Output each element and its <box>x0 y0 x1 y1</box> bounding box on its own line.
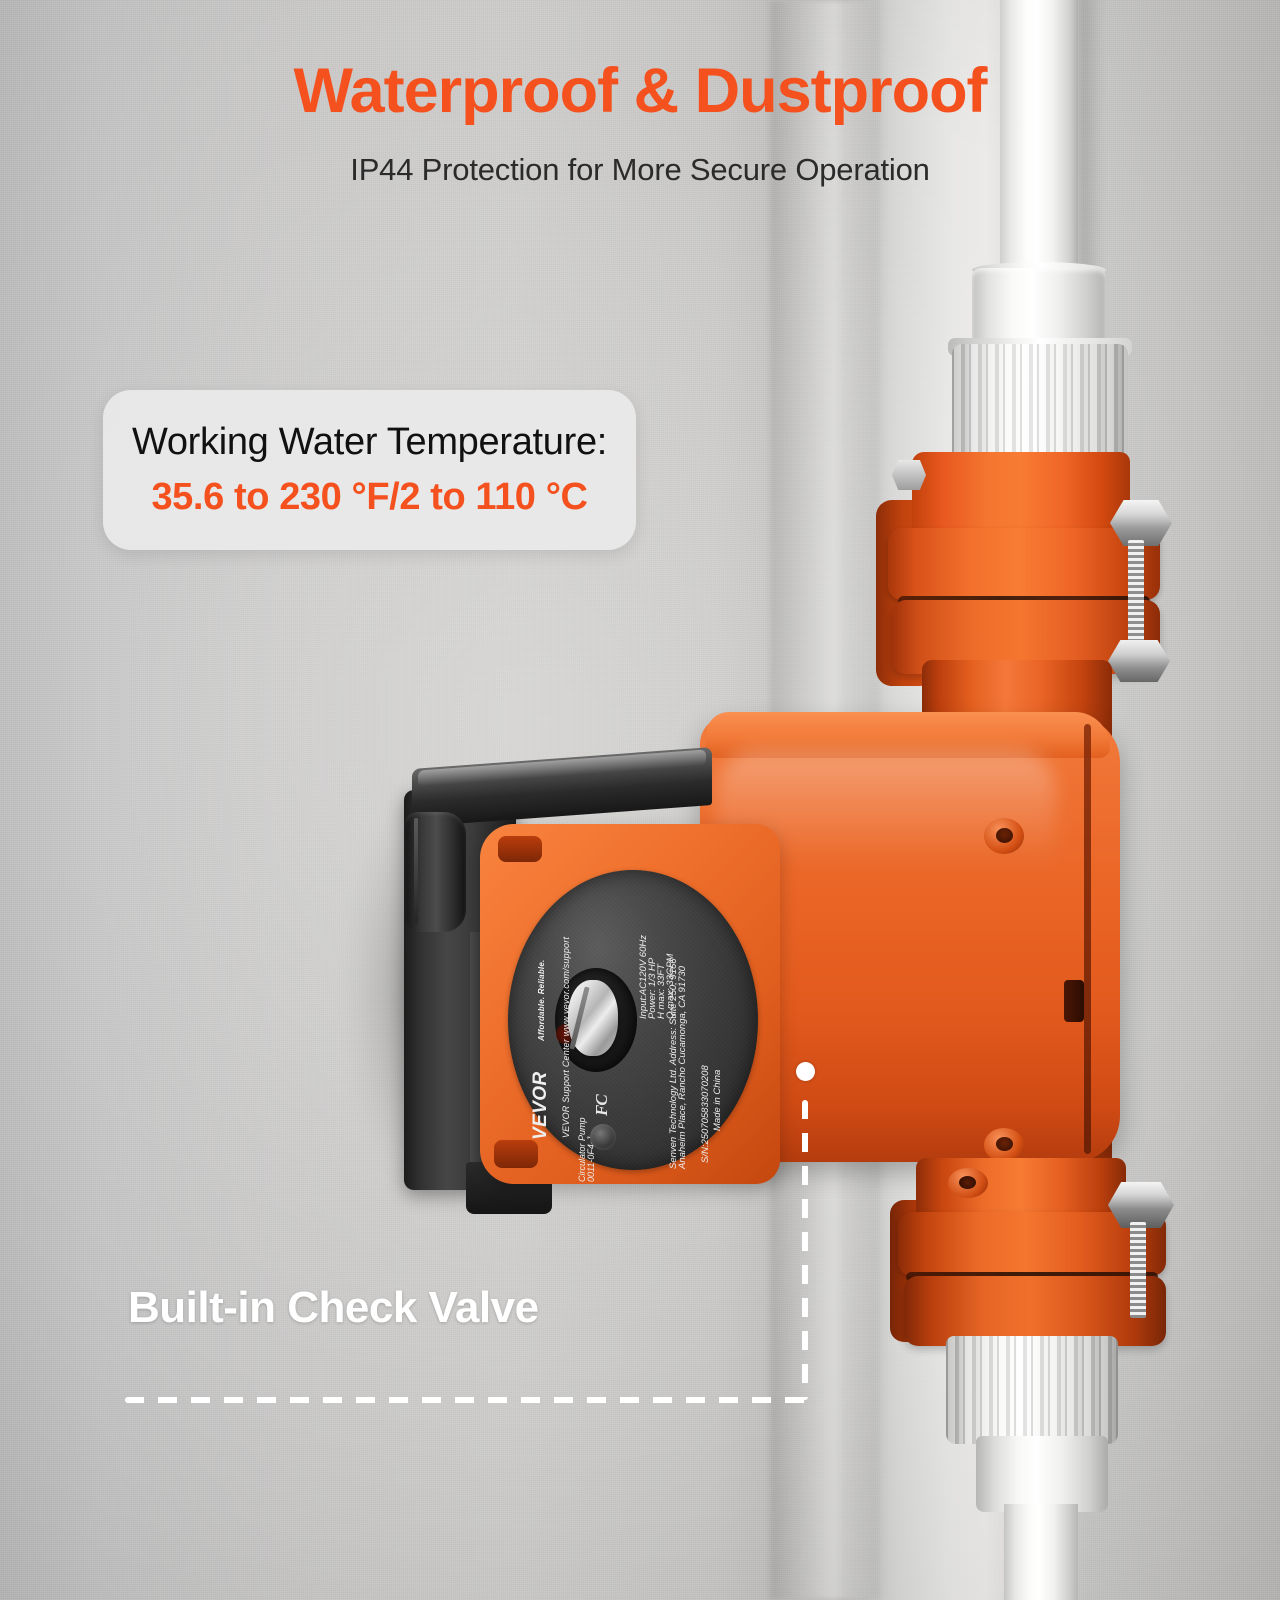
working-temperature-value: 35.6 to 230 °F/2 to 110 °C <box>151 476 587 519</box>
page-subtitle: IP44 Protection for More Secure Operatio… <box>0 152 1280 188</box>
top-water-pipe <box>1000 0 1078 285</box>
certification-badge-icon <box>590 1124 616 1150</box>
nameplate-tagline-1: Affordable. Reliable. <box>537 960 546 1041</box>
product-photo: VEVOR Affordable. Reliable. VEVOR Suppor… <box>0 0 1280 1600</box>
upper-flange-threaded-rod <box>1128 540 1144 650</box>
volute-notch <box>1064 980 1084 1022</box>
faceplate-notch-top <box>498 836 542 862</box>
lower-union-nut <box>946 1336 1118 1444</box>
motor-shaft-screw <box>568 980 618 1056</box>
nameplate-serial-number: S/N:250705833070208 <box>700 1065 711 1163</box>
nameplate-support: VEVOR Support Center www.vevor.com/suppo… <box>561 937 571 1138</box>
upper-flange-hex-nut <box>1108 640 1170 682</box>
working-temperature-card: Working Water Temperature: 35.6 to 230 °… <box>103 390 636 550</box>
top-pipe-shading <box>1078 0 1104 285</box>
nameplate-country-of-origin: Made in China <box>712 1070 723 1131</box>
volute-boss-upper-hole <box>996 828 1013 843</box>
upper-union-nut <box>952 344 1128 466</box>
terminal-box-gland-groove <box>414 818 418 924</box>
callout-point-marker <box>796 1062 815 1081</box>
product-marketing-image: VEVOR Affordable. Reliable. VEVOR Suppor… <box>0 0 1280 1600</box>
volute-boss-lower-hole <box>996 1137 1013 1151</box>
nameplate-address-2: Anaheim Place, Rancho Cucamonga, CA 9173… <box>677 966 688 1169</box>
nameplate-brand: VEVOR <box>530 1071 552 1140</box>
lower-flange-threaded-rod <box>1130 1222 1146 1318</box>
callout-vertical-dashed-line <box>802 1100 808 1400</box>
upper-flange-left-bolt-head <box>892 460 926 490</box>
page-title: Waterproof & Dustproof <box>0 58 1280 124</box>
bottom-water-pipe <box>1004 1504 1078 1600</box>
working-temperature-label: Working Water Temperature: <box>132 421 607 464</box>
fcc-certification-icon: FC <box>592 1086 614 1116</box>
lower-flange-boss-hole <box>959 1176 976 1189</box>
check-valve-callout-label: Built-in Check Valve <box>128 1283 539 1333</box>
upper-flange-plate-top <box>888 528 1160 600</box>
callout-horizontal-dashed-line <box>125 1397 808 1403</box>
volute-seam-line <box>1084 724 1091 1154</box>
lower-pipe-collar <box>976 1436 1108 1512</box>
